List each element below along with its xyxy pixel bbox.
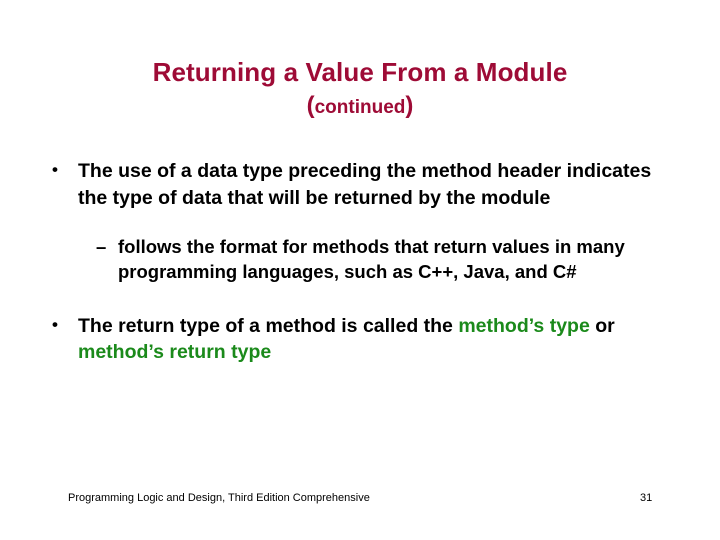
footer-source-text: Programming Logic and Design, Third Edit… bbox=[68, 492, 370, 504]
page-number: 31 bbox=[640, 492, 652, 504]
slide-body: • The use of a data type preceding the m… bbox=[52, 158, 677, 366]
slide-canvas: Returning a Value From a Module (continu… bbox=[0, 0, 720, 540]
list-item: • The use of a data type preceding the m… bbox=[52, 158, 677, 211]
highlighted-term-method-type: method’s type bbox=[458, 315, 589, 337]
subtitle-open-paren: ( bbox=[307, 92, 315, 119]
spacer bbox=[52, 285, 677, 313]
slide-title-block: Returning a Value From a Module (continu… bbox=[40, 58, 680, 120]
highlighted-term-method-return-type: method’s return type bbox=[78, 341, 271, 363]
subtitle-word: continued bbox=[315, 97, 406, 118]
list-item: • The return type of a method is called … bbox=[52, 313, 677, 366]
list-item-label: follows the format for methods that retu… bbox=[118, 235, 677, 285]
slide-footer: Programming Logic and Design, Third Edit… bbox=[0, 492, 720, 514]
list-item-lead-text: The return type of a method is called th… bbox=[78, 315, 458, 337]
bullet-dot-icon: • bbox=[52, 158, 78, 181]
slide-subtitle: (continued) bbox=[40, 93, 680, 119]
spacer bbox=[52, 211, 677, 235]
subtitle-close-paren: ) bbox=[405, 92, 413, 119]
list-item: – follows the format for methods that re… bbox=[96, 235, 677, 285]
bullet-dot-icon: • bbox=[52, 313, 78, 336]
list-item-label: The use of a data type preceding the met… bbox=[78, 158, 677, 211]
list-item-conjunction: or bbox=[590, 315, 615, 337]
page-title: Returning a Value From a Module bbox=[40, 58, 680, 87]
bullet-dash-icon: – bbox=[96, 235, 118, 260]
list-item-label: The return type of a method is called th… bbox=[78, 313, 677, 366]
